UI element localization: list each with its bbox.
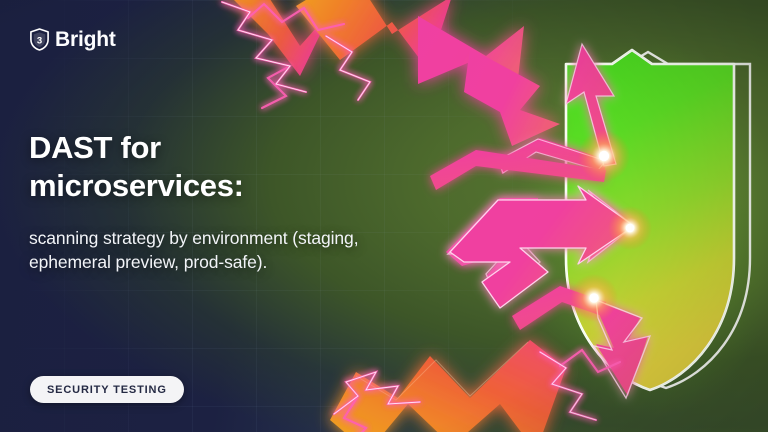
- brand-name: Bright: [55, 29, 116, 50]
- shield-3-icon: 3: [29, 28, 50, 51]
- svg-text:3: 3: [37, 35, 42, 46]
- page-subtitle: scanning strategy by environment (stagin…: [29, 226, 407, 274]
- social-card: 3 Bright DAST for microservices: scannin…: [0, 0, 768, 432]
- vignette-overlay: [0, 0, 768, 432]
- brand-logo[interactable]: 3 Bright: [29, 28, 116, 51]
- category-badge[interactable]: SECURITY TESTING: [30, 376, 184, 403]
- page-title: DAST for microservices:: [29, 129, 359, 204]
- headline-line-1: DAST for: [29, 129, 359, 167]
- headline-line-2: microservices:: [29, 167, 359, 205]
